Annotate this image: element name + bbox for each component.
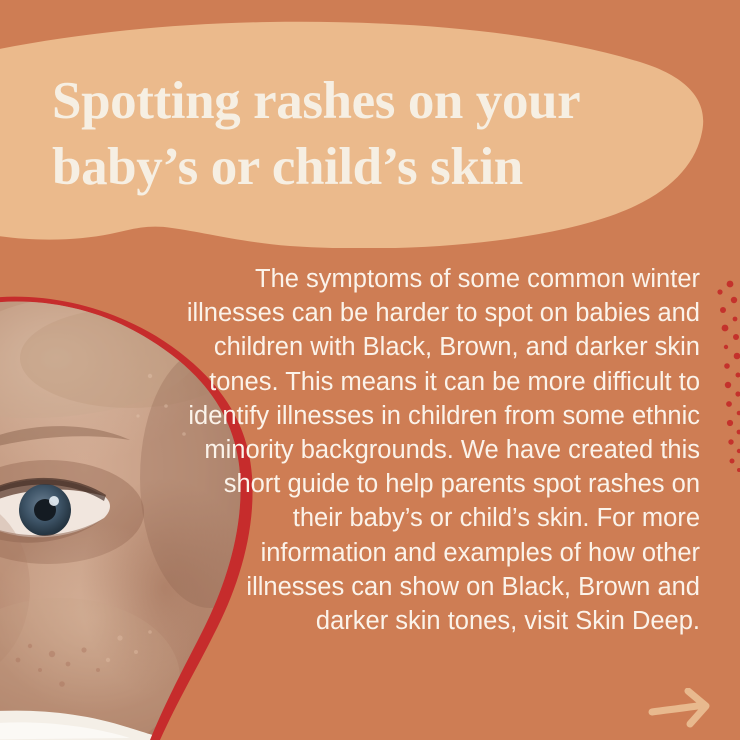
page-title-line-2: baby’s or child’s skin: [52, 134, 692, 200]
page-title: Spotting rashes on your baby’s or child’…: [52, 68, 692, 200]
body-copy: The symptoms of some common winter illne…: [178, 262, 700, 638]
poster-canvas: Spotting rashes on your baby’s or child’…: [0, 0, 740, 740]
body-copy-text: The symptoms of some common winter illne…: [178, 262, 700, 638]
arrow-right-icon[interactable]: [648, 688, 714, 728]
next-slide-button[interactable]: [648, 688, 714, 728]
page-title-line-1: Spotting rashes on your: [52, 68, 692, 134]
decorative-dot-arc: [698, 278, 740, 488]
